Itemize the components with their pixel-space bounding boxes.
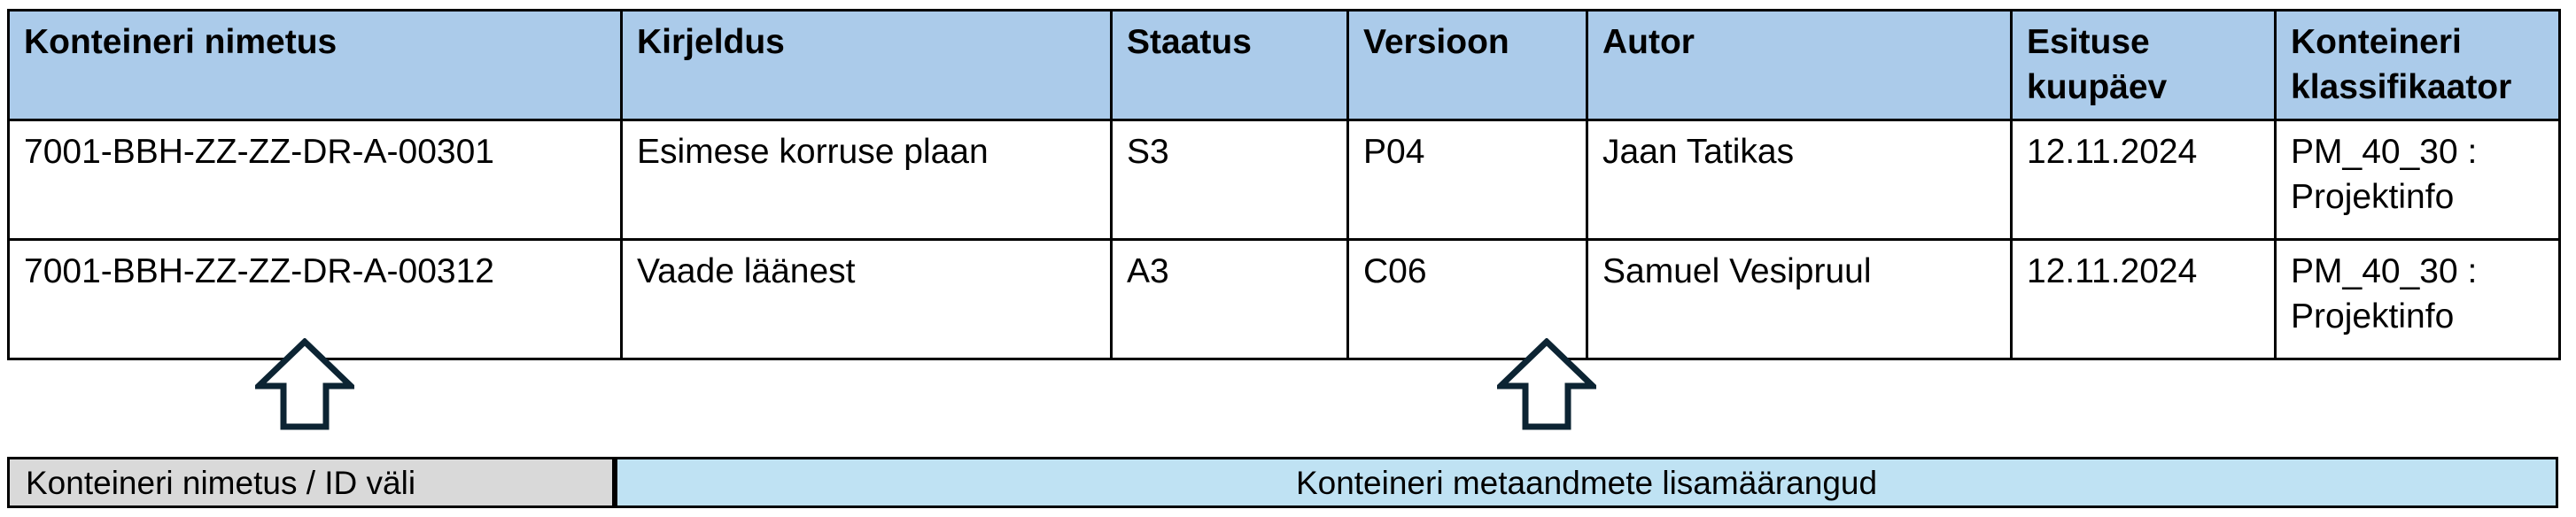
column-header-kirjeldus: Kirjeldus	[622, 11, 1112, 120]
cell-kirjeldus: Vaade läänest	[622, 240, 1112, 359]
legend-container-name-field: Konteineri nimetus / ID väli	[7, 457, 615, 508]
table-header: Konteineri nimetus Kirjeldus Staatus Ver…	[9, 11, 2560, 120]
page-root: Konteineri nimetus Kirjeldus Staatus Ver…	[0, 0, 2576, 517]
arrow-up-icon	[1497, 338, 1596, 430]
cell-staatus: A3	[1112, 240, 1348, 359]
table-body: 7001-BBH-ZZ-ZZ-DR-A-00301 Esimese korrus…	[9, 120, 2560, 359]
cell-versioon: P04	[1348, 120, 1587, 240]
table-row: 7001-BBH-ZZ-ZZ-DR-A-00312 Vaade läänest …	[9, 240, 2560, 359]
column-header-konteineri-nimetus: Konteineri nimetus	[9, 11, 622, 120]
cell-autor: Jaan Tatikas	[1587, 120, 2012, 240]
cell-staatus: S3	[1112, 120, 1348, 240]
cell-esituse-kuupaev: 12.11.2024	[2012, 120, 2276, 240]
table-header-row: Konteineri nimetus Kirjeldus Staatus Ver…	[9, 11, 2560, 120]
column-header-konteineri-klassifikaator: Konteineri klassifikaator	[2276, 11, 2560, 120]
cell-konteineri-klassifikaator: PM_40_30 : Projektinfo	[2276, 240, 2560, 359]
arrow-up-icon	[255, 338, 354, 430]
cell-konteineri-nimetus: 7001-BBH-ZZ-ZZ-DR-A-00301	[9, 120, 622, 240]
table-row: 7001-BBH-ZZ-ZZ-DR-A-00301 Esimese korrus…	[9, 120, 2560, 240]
cell-kirjeldus: Esimese korruse plaan	[622, 120, 1112, 240]
legend-bar: Konteineri nimetus / ID väli Konteineri …	[7, 457, 2558, 508]
column-header-staatus: Staatus	[1112, 11, 1348, 120]
legend-container-metadata: Konteineri metaandmete lisamäärangud	[615, 457, 2558, 508]
cell-esituse-kuupaev: 12.11.2024	[2012, 240, 2276, 359]
column-header-esituse-kuupaev: Esituse kuupäev	[2012, 11, 2276, 120]
cell-autor: Samuel Vesipruul	[1587, 240, 2012, 359]
column-header-versioon: Versioon	[1348, 11, 1587, 120]
cell-konteineri-klassifikaator: PM_40_30 : Projektinfo	[2276, 120, 2560, 240]
column-header-autor: Autor	[1587, 11, 2012, 120]
container-metadata-table: Konteineri nimetus Kirjeldus Staatus Ver…	[7, 9, 2561, 360]
